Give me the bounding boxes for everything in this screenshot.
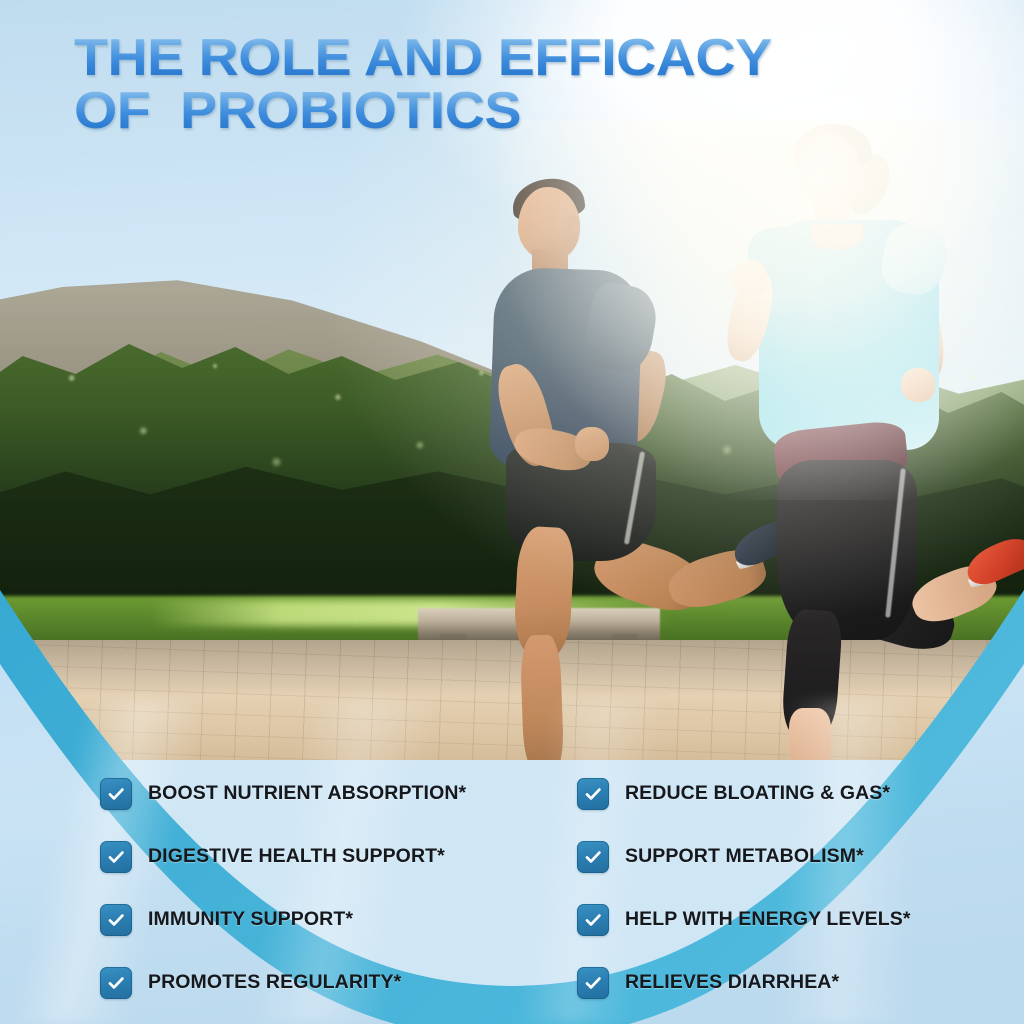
checkbox-checked-icon <box>100 841 132 873</box>
checkbox-checked-icon <box>577 967 609 999</box>
title-line-2: OF PROBIOTICS <box>74 87 772 136</box>
benefit-label: HELP WITH ENERGY LEVELS* <box>625 908 911 931</box>
male-ear <box>566 215 580 233</box>
benefit-item-reduce-bloating-gas: REDUCE BLOATING & GAS* <box>577 762 1024 825</box>
benefit-item-help-with-energy-levels: HELP WITH ENERGY LEVELS* <box>577 888 1024 951</box>
benefit-item-relieves-diarrhea: RELIEVES DIARRHEA* <box>577 951 1024 1014</box>
benefit-label: DIGESTIVE HEALTH SUPPORT* <box>148 845 445 868</box>
benefit-item-digestive-health-support: DIGESTIVE HEALTH SUPPORT* <box>100 825 577 888</box>
benefit-item-support-metabolism: SUPPORT METABOLISM* <box>577 825 1024 888</box>
female-right-fist <box>901 368 935 402</box>
benefit-item-promotes-regularity: PROMOTES REGULARITY* <box>100 951 577 1014</box>
female-collar <box>811 224 863 250</box>
title-line-1: THE ROLE AND EFFICACY <box>74 34 772 83</box>
benefits-list: BOOST NUTRIENT ABSORPTION* REDUCE BLOATI… <box>0 762 1024 1024</box>
benefit-item-immunity-support: IMMUNITY SUPPORT* <box>100 888 577 951</box>
benefit-label: PROMOTES REGULARITY* <box>148 971 401 994</box>
checkbox-checked-icon <box>577 841 609 873</box>
benefit-item-boost-nutrient-absorption: BOOST NUTRIENT ABSORPTION* <box>100 762 577 825</box>
page-title: THE ROLE AND EFFICACY OF PROBIOTICS <box>74 34 726 141</box>
probiotics-poster: THE ROLE AND EFFICACY OF PROBIOTICS BOOS… <box>0 0 1024 1024</box>
male-fist <box>575 427 609 461</box>
female-left-fist <box>733 260 767 296</box>
checkbox-checked-icon <box>100 904 132 936</box>
checkbox-checked-icon <box>577 778 609 810</box>
benefit-label: SUPPORT METABOLISM* <box>625 845 864 868</box>
checkbox-checked-icon <box>100 967 132 999</box>
checkbox-checked-icon <box>577 904 609 936</box>
benefit-label: IMMUNITY SUPPORT* <box>148 908 353 931</box>
benefit-label: BOOST NUTRIENT ABSORPTION* <box>148 782 466 805</box>
checkbox-checked-icon <box>100 778 132 810</box>
benefit-label: RELIEVES DIARRHEA* <box>625 971 839 994</box>
benefit-label: REDUCE BLOATING & GAS* <box>625 782 890 805</box>
